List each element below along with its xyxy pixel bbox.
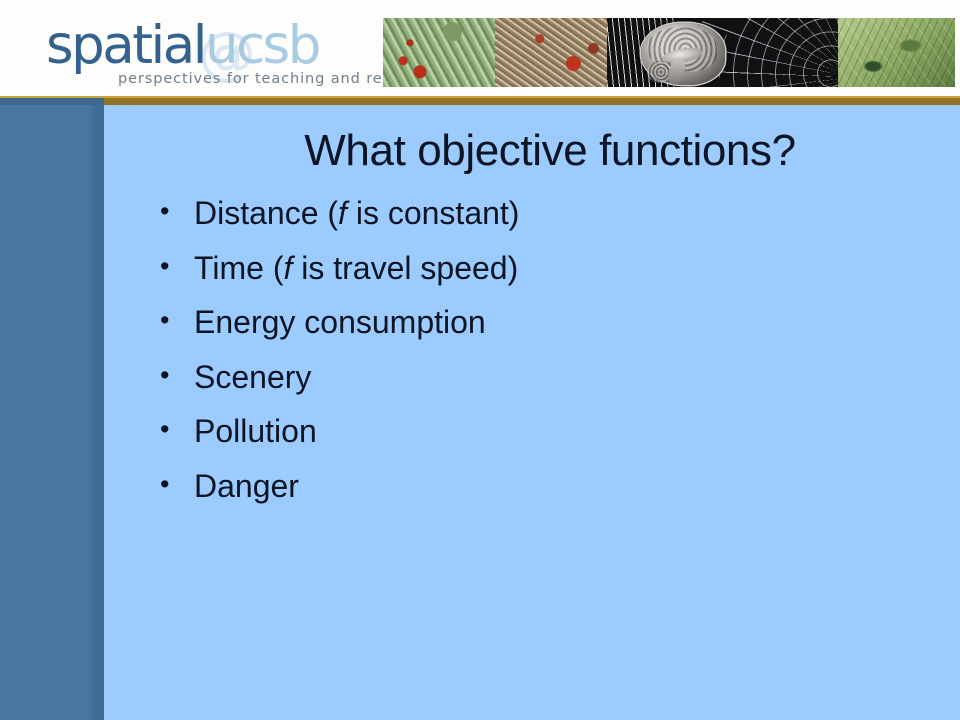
bullet-list: Distance (f is constant) Time (f is trav… — [146, 195, 906, 522]
bullet-text-italic: f — [338, 195, 347, 231]
slide-root: @ spatialucsb perspectives for teaching … — [0, 0, 960, 720]
satellite-imagery-left-icon — [383, 18, 495, 87]
list-item: Energy consumption — [146, 304, 906, 340]
slide-content-area: What objective functions? Distance (f is… — [104, 105, 960, 720]
list-item: Danger — [146, 468, 906, 504]
logo-word-spatial: spatial — [46, 15, 205, 76]
bullet-text-pre: Danger — [194, 468, 299, 504]
bullet-text-pre: Energy consumption — [194, 304, 486, 340]
slide-header: @ spatialucsb perspectives for teaching … — [0, 0, 960, 98]
brain-mri-web-icon — [607, 18, 838, 87]
header-banner-strip — [383, 18, 955, 87]
bullet-text-pre: Pollution — [194, 413, 317, 449]
sidebar-top-cap — [0, 98, 104, 105]
list-item: Distance (f is constant) — [146, 195, 906, 231]
bullet-text-post: is travel speed) — [292, 250, 518, 286]
green-terrain-icon — [838, 18, 955, 87]
bullet-text-post: is constant) — [347, 195, 520, 231]
page-title: What objective functions? — [200, 125, 900, 177]
logo-wordmark: spatialucsb — [46, 18, 319, 74]
spatial-ucsb-logo: @ spatialucsb perspectives for teaching … — [46, 14, 356, 86]
list-item: Time (f is travel speed) — [146, 250, 906, 286]
stage-top-gold-bar — [104, 98, 960, 105]
bullet-text-pre: Time ( — [194, 250, 283, 286]
bullet-text-pre: Distance ( — [194, 195, 338, 231]
logo-word-ucsb: ucsb — [205, 15, 319, 76]
left-sidebar — [0, 105, 104, 720]
bullet-text-pre: Scenery — [194, 359, 311, 395]
satellite-imagery-right-icon — [495, 18, 607, 87]
list-item: Scenery — [146, 359, 906, 395]
list-item: Pollution — [146, 413, 906, 449]
web-rings-decoration — [717, 18, 838, 87]
